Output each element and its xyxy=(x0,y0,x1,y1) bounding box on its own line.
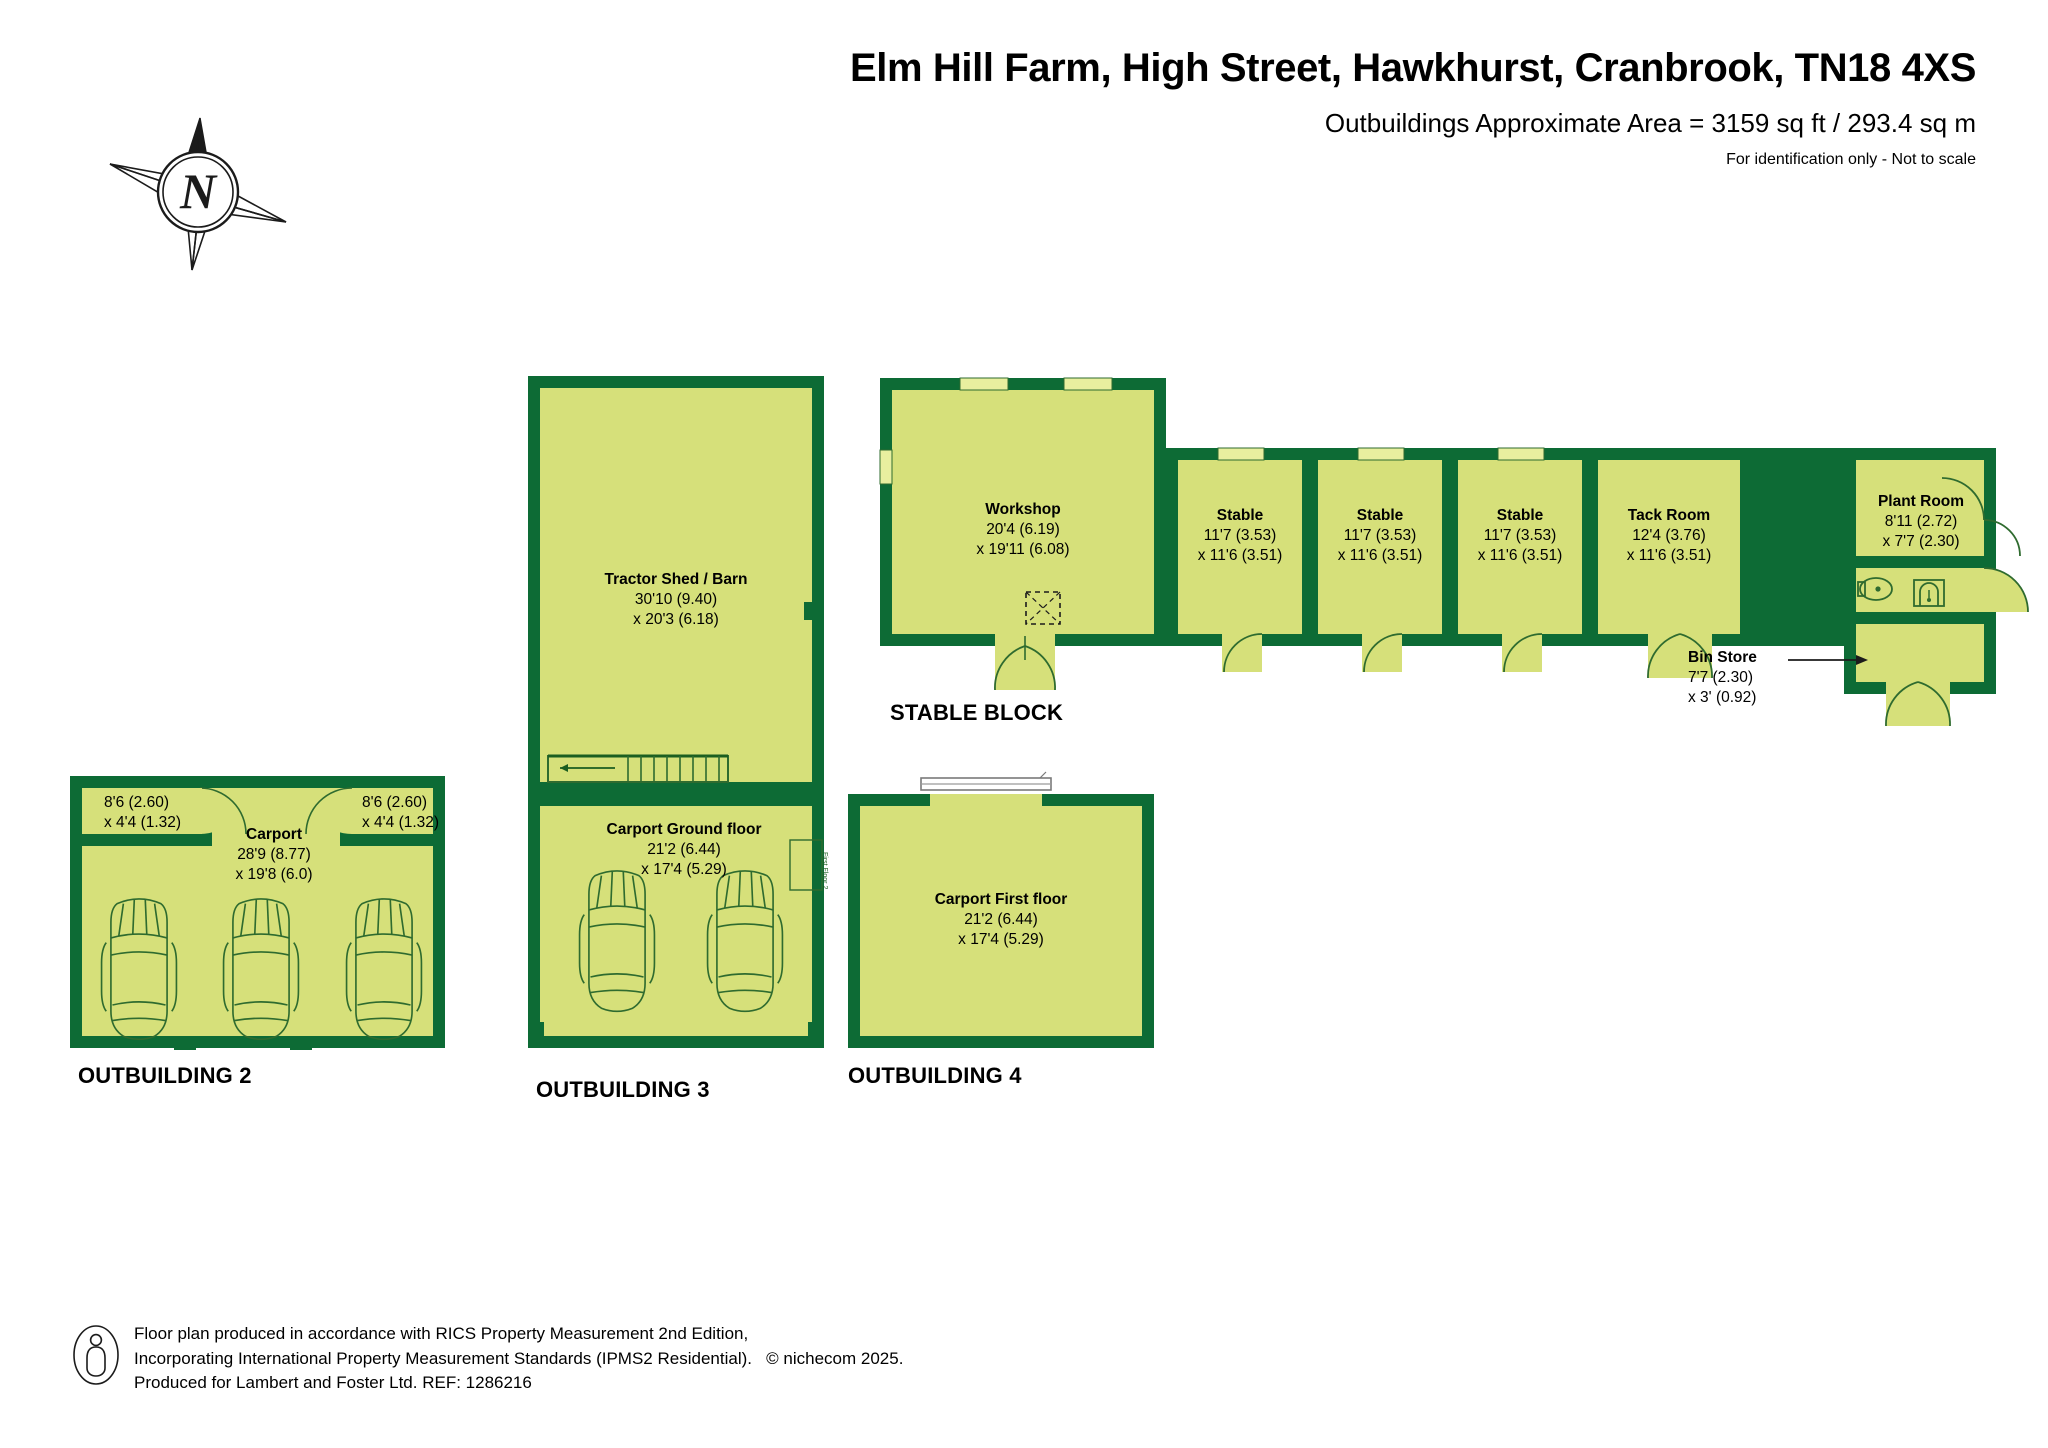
bin-store-leader xyxy=(1788,655,1868,665)
footer-line-2a: Incorporating International Property Mea… xyxy=(134,1349,752,1368)
footer-copyright: © nichecom 2025. xyxy=(766,1349,903,1368)
caption-outbuilding-4: OUTBUILDING 4 xyxy=(848,1063,1022,1089)
footer-line-3: Produced for Lambert and Foster Ltd. REF… xyxy=(134,1371,903,1396)
room-label-store-left: 8'6 (2.60) x 4'4 (1.32) xyxy=(104,793,181,833)
caption-stable-block: STABLE BLOCK xyxy=(890,700,1063,726)
footer-line-2: Incorporating International Property Mea… xyxy=(134,1347,903,1372)
outbuilding-4-shape xyxy=(848,772,1154,1048)
caption-outbuilding-2: OUTBUILDING 2 xyxy=(78,1063,252,1089)
first-floor-note: First Floor 2 xyxy=(784,852,828,878)
stair-landing-symbol xyxy=(921,772,1051,790)
footer-line-1: Floor plan produced in accordance with R… xyxy=(134,1322,903,1347)
stable-block-shape xyxy=(880,378,2028,726)
outbuilding-3-shape xyxy=(528,376,824,1048)
caption-outbuilding-3: OUTBUILDING 3 xyxy=(536,1077,710,1103)
room-label-store-right: 8'6 (2.60) x 4'4 (1.32) xyxy=(362,793,439,833)
person-in-ellipse-icon xyxy=(72,1324,120,1386)
